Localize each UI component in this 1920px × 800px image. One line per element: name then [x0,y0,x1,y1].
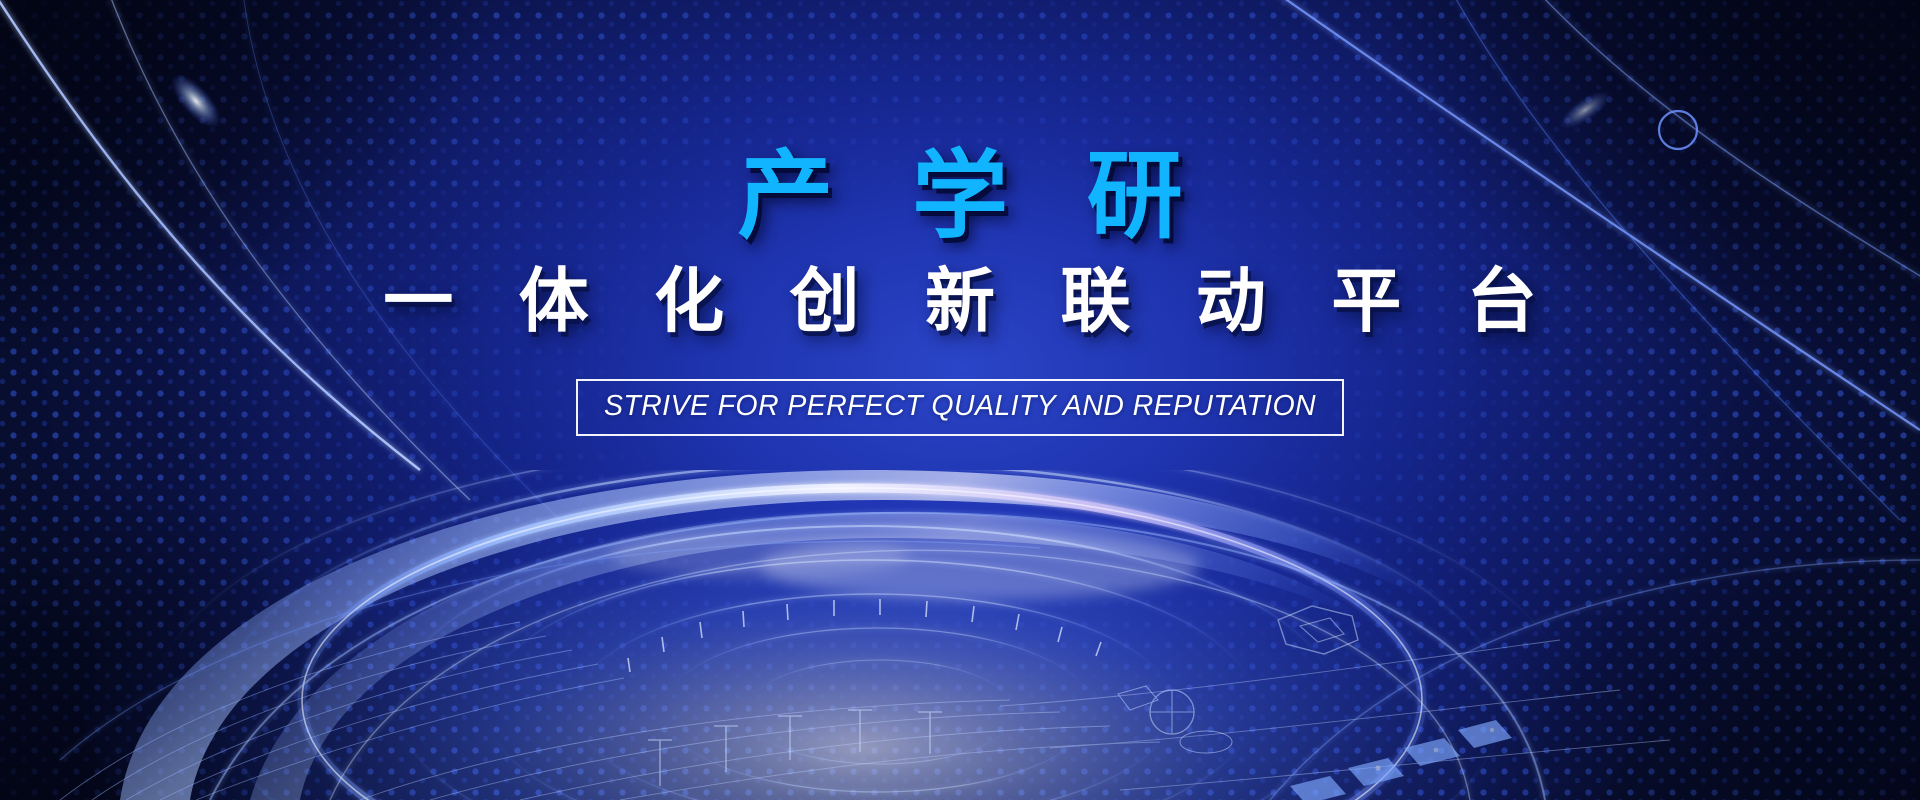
hero-banner: 产 学 研 一 体 化 创 新 联 动 平 台 STRIVE FOR PERFE… [0,0,1920,800]
tagline-box: STRIVE FOR PERFECT QUALITY AND REPUTATIO… [576,379,1344,436]
page-title: 产 学 研 [711,148,1208,246]
banner-content: 产 学 研 一 体 化 创 新 联 动 平 台 STRIVE FOR PERFE… [0,0,1920,800]
tagline-text: STRIVE FOR PERFECT QUALITY AND REPUTATIO… [604,390,1316,423]
page-subtitle: 一 体 化 创 新 联 动 平 台 [360,264,1560,338]
